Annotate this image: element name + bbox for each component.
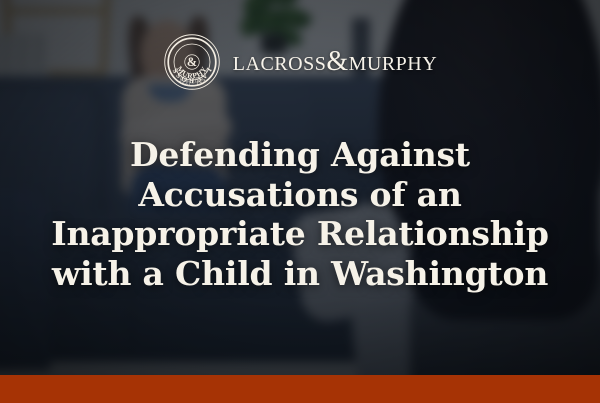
headline-line: Defending Against	[30, 135, 570, 175]
brand-lockup[interactable]: EST. 1998 LACROSS MURPHY LAW FIRM & Lacr…	[163, 33, 437, 91]
badge-ampersand: &	[187, 55, 197, 69]
hero-content: EST. 1998 LACROSS MURPHY LAW FIRM & Lacr…	[0, 0, 600, 403]
page-title: Defending Against Accusations of an Inap…	[30, 135, 570, 293]
brand-wordmark[interactable]: Lacross&Murphy	[233, 48, 437, 76]
headline-line: with a Child in Washington	[30, 254, 570, 294]
headline-line: Inappropriate Relationship	[30, 214, 570, 254]
accent-bottom-bar	[0, 375, 600, 403]
headline-line: Accusations of an	[30, 175, 570, 215]
lacross-murphy-seal-badge[interactable]: EST. 1998 LACROSS MURPHY LAW FIRM &	[163, 33, 221, 91]
hero-banner: EST. 1998 LACROSS MURPHY LAW FIRM & Lacr…	[0, 0, 600, 403]
